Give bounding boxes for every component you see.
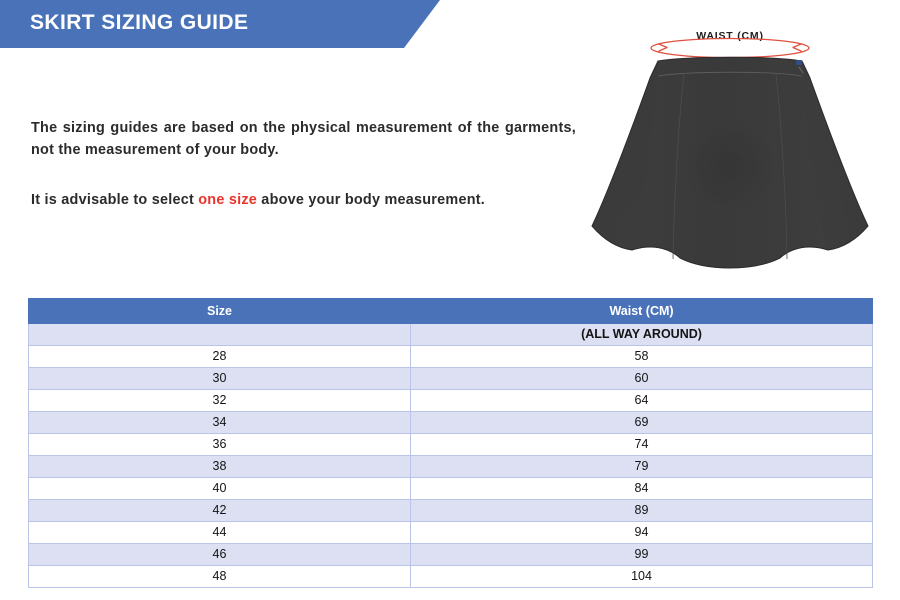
intro-paragraph-2-prefix: It is advisable to select	[31, 192, 198, 208]
cell-waist: 69	[411, 412, 873, 434]
intro-accent-phrase: one size	[198, 192, 257, 208]
cell-size: 42	[29, 500, 411, 522]
table-body: 2858306032643469367438794084428944944699…	[29, 346, 873, 588]
cell-waist: 58	[411, 346, 873, 368]
cell-size: 44	[29, 522, 411, 544]
cell-size: 32	[29, 390, 411, 412]
table-row: 3060	[29, 368, 873, 390]
table-header-row: Size Waist (CM)	[29, 299, 873, 324]
subheader-all-way-around: (ALL WAY AROUND)	[411, 324, 873, 346]
cell-waist: 99	[411, 544, 873, 566]
table-row: 3264	[29, 390, 873, 412]
table-row: 3879	[29, 456, 873, 478]
size-chart-table: Size Waist (CM) (ALL WAY AROUND) 2858306…	[28, 298, 873, 588]
table-row: 4699	[29, 544, 873, 566]
table-row: 4289	[29, 500, 873, 522]
skirt-illustration	[570, 18, 890, 283]
cell-size: 46	[29, 544, 411, 566]
cell-waist: 79	[411, 456, 873, 478]
skirt-body	[592, 57, 868, 268]
cell-waist: 74	[411, 434, 873, 456]
column-header-waist: Waist (CM)	[411, 299, 873, 324]
subheader-blank-cell	[29, 324, 411, 346]
cell-waist: 104	[411, 566, 873, 588]
cell-waist: 84	[411, 478, 873, 500]
table-row: 4494	[29, 522, 873, 544]
cell-size: 48	[29, 566, 411, 588]
table-row: 3469	[29, 412, 873, 434]
intro-paragraph-1: The sizing guides are based on the physi…	[31, 117, 576, 162]
cell-waist: 64	[411, 390, 873, 412]
cell-waist: 89	[411, 500, 873, 522]
table-row: 4084	[29, 478, 873, 500]
skirt-figure: WAIST (CM)	[570, 18, 890, 283]
table-row: 2858	[29, 346, 873, 368]
cell-size: 38	[29, 456, 411, 478]
table-row: 3674	[29, 434, 873, 456]
page-title: SKIRT SIZING GUIDE	[30, 11, 248, 35]
intro-paragraph-2-suffix: above your body measurement.	[257, 192, 485, 208]
intro-text-block: The sizing guides are based on the physi…	[31, 117, 576, 211]
waist-measure-arrow-icon	[651, 39, 809, 58]
cell-size: 36	[29, 434, 411, 456]
cell-waist: 60	[411, 368, 873, 390]
cell-size: 30	[29, 368, 411, 390]
cell-size: 34	[29, 412, 411, 434]
table-subheader-row: (ALL WAY AROUND)	[29, 324, 873, 346]
cell-size: 40	[29, 478, 411, 500]
cell-size: 28	[29, 346, 411, 368]
table-row: 48104	[29, 566, 873, 588]
column-header-size: Size	[29, 299, 411, 324]
cell-waist: 94	[411, 522, 873, 544]
intro-paragraph-2: It is advisable to select one size above…	[31, 189, 576, 211]
